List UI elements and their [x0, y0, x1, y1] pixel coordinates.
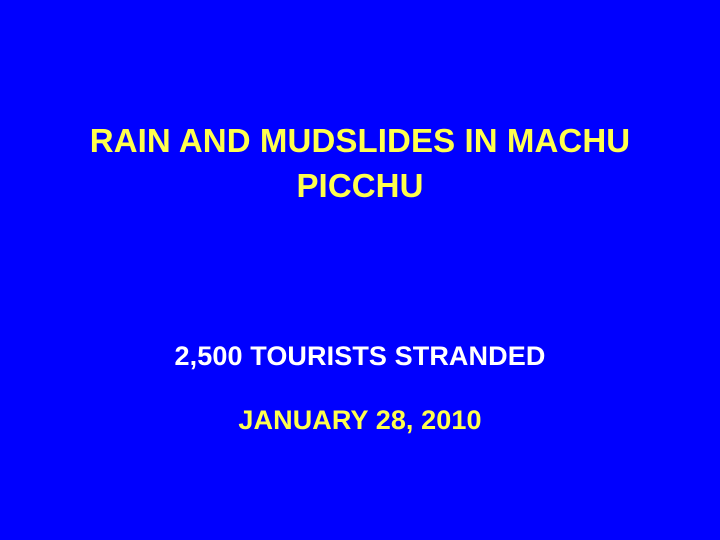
slide-title: RAIN AND MUDSLIDES IN MACHU PICCHU: [36, 118, 684, 208]
slide-title-block: RAIN AND MUDSLIDES IN MACHU PICCHU: [36, 118, 684, 208]
slide-body-block: 2,500 TOURISTS STRANDED JANUARY 28, 2010: [36, 340, 684, 437]
body-line-date: JANUARY 28, 2010: [36, 404, 684, 437]
presentation-slide: RAIN AND MUDSLIDES IN MACHU PICCHU 2,500…: [0, 0, 720, 540]
body-line-tourists-stranded: 2,500 TOURISTS STRANDED: [36, 340, 684, 373]
